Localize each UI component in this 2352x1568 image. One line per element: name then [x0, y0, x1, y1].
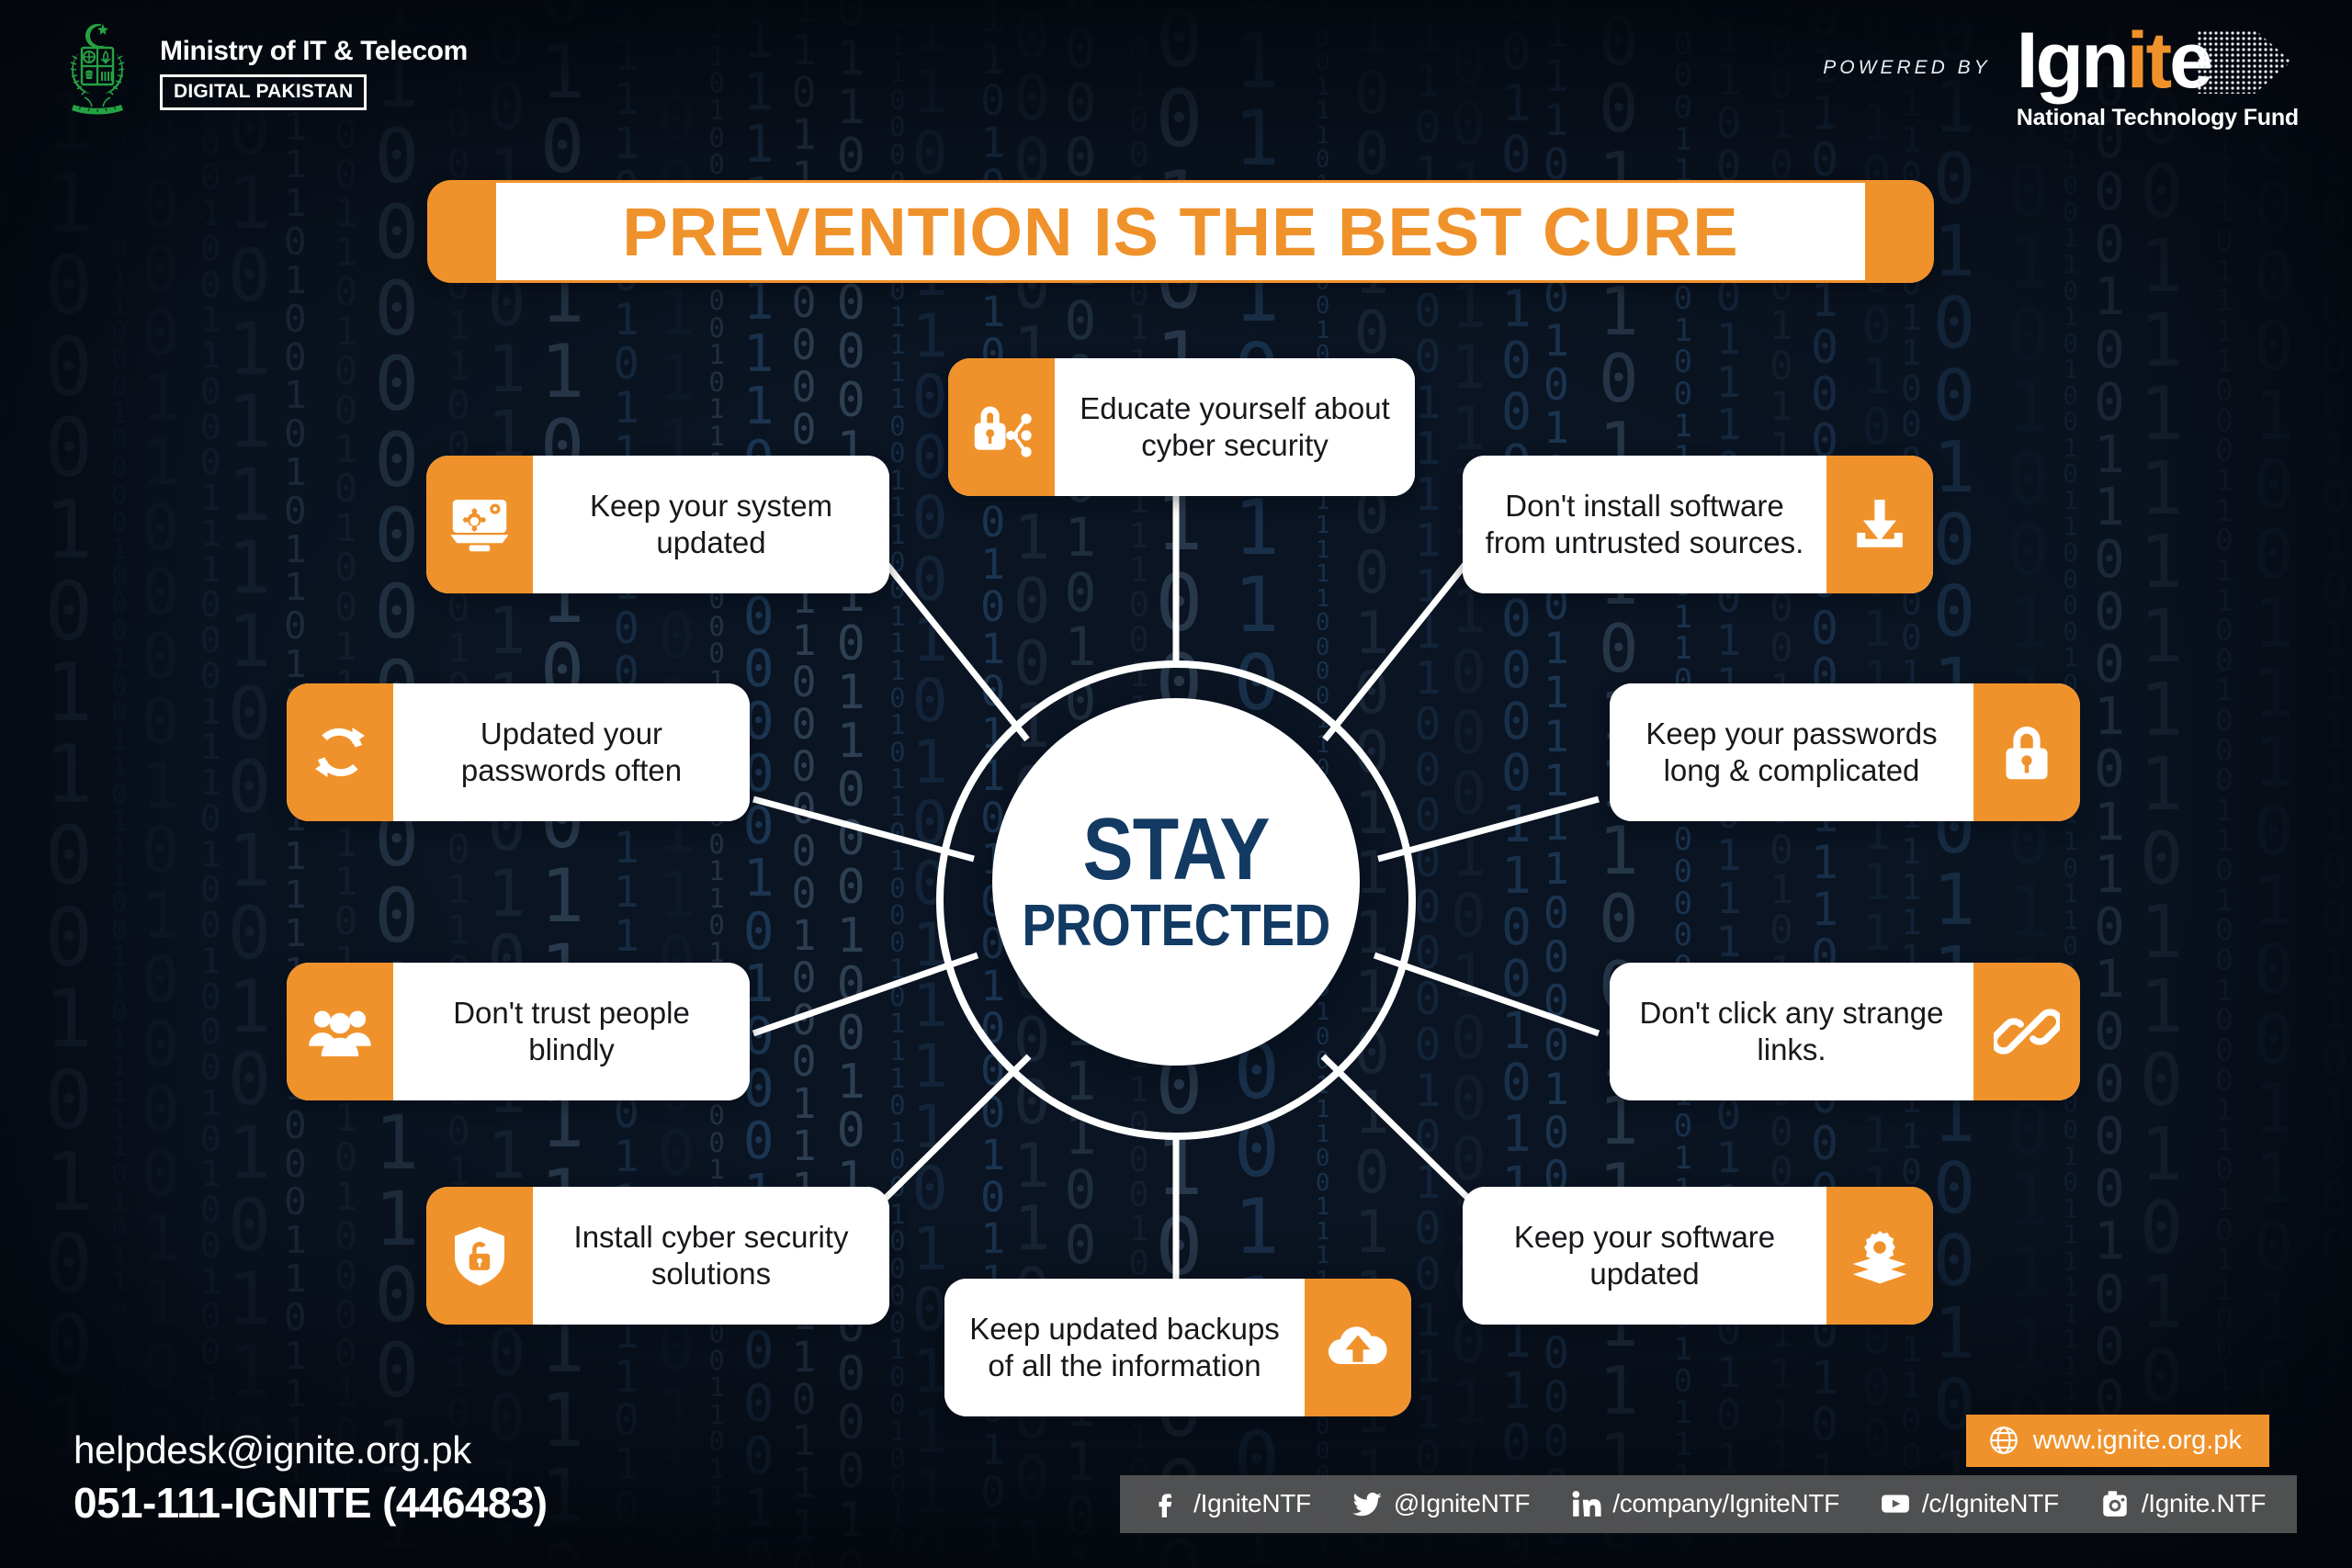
people-group-icon	[287, 963, 393, 1100]
twitter-icon	[1351, 1488, 1383, 1519]
social-links-bar: /IgniteNTF @IgniteNTF /company/IgniteNTF…	[1120, 1475, 2297, 1533]
tip-card-keep-software-updated[interactable]: Keep your software updated	[1463, 1187, 1933, 1325]
tip-text: Don't trust people blindly	[413, 995, 729, 1067]
cloud-upload-icon	[1305, 1279, 1411, 1416]
tip-text-wrap: Keep your system updated	[533, 456, 889, 593]
tip-text-wrap: Educate yourself about cyber security	[1055, 358, 1415, 496]
ignite-logo-part2: it	[2127, 24, 2170, 99]
tip-text: Educate yourself about cyber security	[1075, 390, 1395, 463]
tip-card-install-security-solutions[interactable]: Install cyber security solutions	[426, 1187, 889, 1325]
tip-text: Install cyber security solutions	[553, 1219, 869, 1292]
powered-by-label: POWERED BY	[1823, 57, 1990, 96]
pakistan-state-emblem-icon	[55, 20, 140, 126]
website-link[interactable]: www.ignite.org.pk	[1966, 1415, 2269, 1467]
social-handle: /IgniteNTF	[1193, 1489, 1311, 1518]
ignite-logo-part1: Ign	[2017, 24, 2127, 99]
padlock-icon	[1973, 683, 2080, 821]
tip-card-dont-install-software[interactable]: Don't install software from untrusted so…	[1463, 456, 1933, 593]
helpline-number[interactable]: 051-111-IGNITE (446483)	[73, 1478, 548, 1528]
tip-text-wrap: Don't install software from untrusted so…	[1463, 456, 1826, 593]
monitor-gear-icon	[426, 456, 533, 593]
hub-line-1: STAY	[1082, 809, 1269, 890]
globe-icon	[1988, 1425, 2019, 1456]
ministry-title: Ministry of IT & Telecom	[160, 36, 468, 67]
center-hub: STAY PROTECTED	[992, 698, 1360, 1066]
tip-text-wrap: Don't trust people blindly	[393, 963, 750, 1100]
hub-line-2: PROTECTED	[1022, 896, 1330, 954]
ignite-branding: POWERED BY Ignite National Technology Fu…	[1823, 20, 2299, 131]
tip-text: Updated your passwords often	[413, 716, 729, 788]
tip-text: Keep updated backups of all the informat…	[965, 1311, 1284, 1383]
tip-text: Don't install software from untrusted so…	[1483, 488, 1806, 560]
social-link-instagram[interactable]: /Ignite.NTF	[2099, 1488, 2266, 1519]
tip-text: Keep your passwords long & complicated	[1630, 716, 1953, 788]
tip-text: Keep your system updated	[553, 488, 869, 560]
tip-text-wrap: Install cyber security solutions	[533, 1187, 889, 1325]
youtube-icon	[1880, 1488, 1911, 1519]
tip-text-wrap: Don't click any strange links.	[1610, 963, 1973, 1100]
instagram-icon	[2099, 1488, 2131, 1519]
contact-block: helpdesk@ignite.org.pk 051-111-IGNITE (4…	[73, 1428, 548, 1528]
title-banner: PREVENTION IS THE BEST CURE	[427, 180, 1934, 283]
tip-text: Don't click any strange links.	[1630, 995, 1953, 1067]
padlock-network-icon	[948, 358, 1055, 496]
social-link-facebook[interactable]: /IgniteNTF	[1151, 1488, 1311, 1519]
social-handle: @IgniteNTF	[1394, 1489, 1530, 1518]
tip-card-update-passwords[interactable]: Updated your passwords often	[287, 683, 750, 821]
facebook-icon	[1151, 1488, 1182, 1519]
digital-pakistan-badge: DIGITAL PAKISTAN	[160, 74, 367, 110]
refresh-cycle-icon	[287, 683, 393, 821]
link-icon	[1973, 963, 2080, 1100]
download-icon	[1826, 456, 1933, 593]
tip-text-wrap: Keep your passwords long & complicated	[1610, 683, 1973, 821]
gear-layers-icon	[1826, 1187, 1933, 1325]
infographic-poster: 1 1 1 0 0 1 0 0 1 1 1 1 0 0 0 1 0 1 0 0 …	[0, 0, 2352, 1568]
linkedin-icon	[1570, 1488, 1601, 1519]
ignite-tagline: National Technology Fund	[2017, 105, 2299, 131]
tip-text-wrap: Keep updated backups of all the informat…	[944, 1279, 1305, 1416]
page-title: PREVENTION IS THE BEST CURE	[622, 193, 1738, 271]
arrow-right-icon	[2198, 20, 2299, 103]
shield-lock-icon	[426, 1187, 533, 1325]
tip-card-keep-system-updated[interactable]: Keep your system updated	[426, 456, 889, 593]
helpdesk-email[interactable]: helpdesk@ignite.org.pk	[73, 1428, 548, 1472]
ignite-logo: Ignite	[2017, 20, 2299, 103]
website-url: www.ignite.org.pk	[2033, 1426, 2242, 1456]
tip-card-dont-trust-people[interactable]: Don't trust people blindly	[287, 963, 750, 1100]
tip-text-wrap: Updated your passwords often	[393, 683, 750, 821]
ministry-branding: Ministry of IT & Telecom DIGITAL PAKISTA…	[55, 20, 468, 126]
social-link-twitter[interactable]: @IgniteNTF	[1351, 1488, 1530, 1519]
tip-card-educate-yourself[interactable]: Educate yourself about cyber security	[948, 358, 1415, 496]
social-handle: /Ignite.NTF	[2142, 1489, 2266, 1518]
social-handle: /c/IgniteNTF	[1922, 1489, 2059, 1518]
social-handle: /company/IgniteNTF	[1612, 1489, 1839, 1518]
tip-card-passwords-long[interactable]: Keep your passwords long & complicated	[1610, 683, 2080, 821]
tip-text: Keep your software updated	[1483, 1219, 1806, 1292]
tip-card-backups[interactable]: Keep updated backups of all the informat…	[944, 1279, 1411, 1416]
social-link-youtube[interactable]: /c/IgniteNTF	[1880, 1488, 2059, 1519]
tip-text-wrap: Keep your software updated	[1463, 1187, 1826, 1325]
tip-card-dont-click-links[interactable]: Don't click any strange links.	[1610, 963, 2080, 1100]
social-link-linkedin[interactable]: /company/IgniteNTF	[1570, 1488, 1839, 1519]
